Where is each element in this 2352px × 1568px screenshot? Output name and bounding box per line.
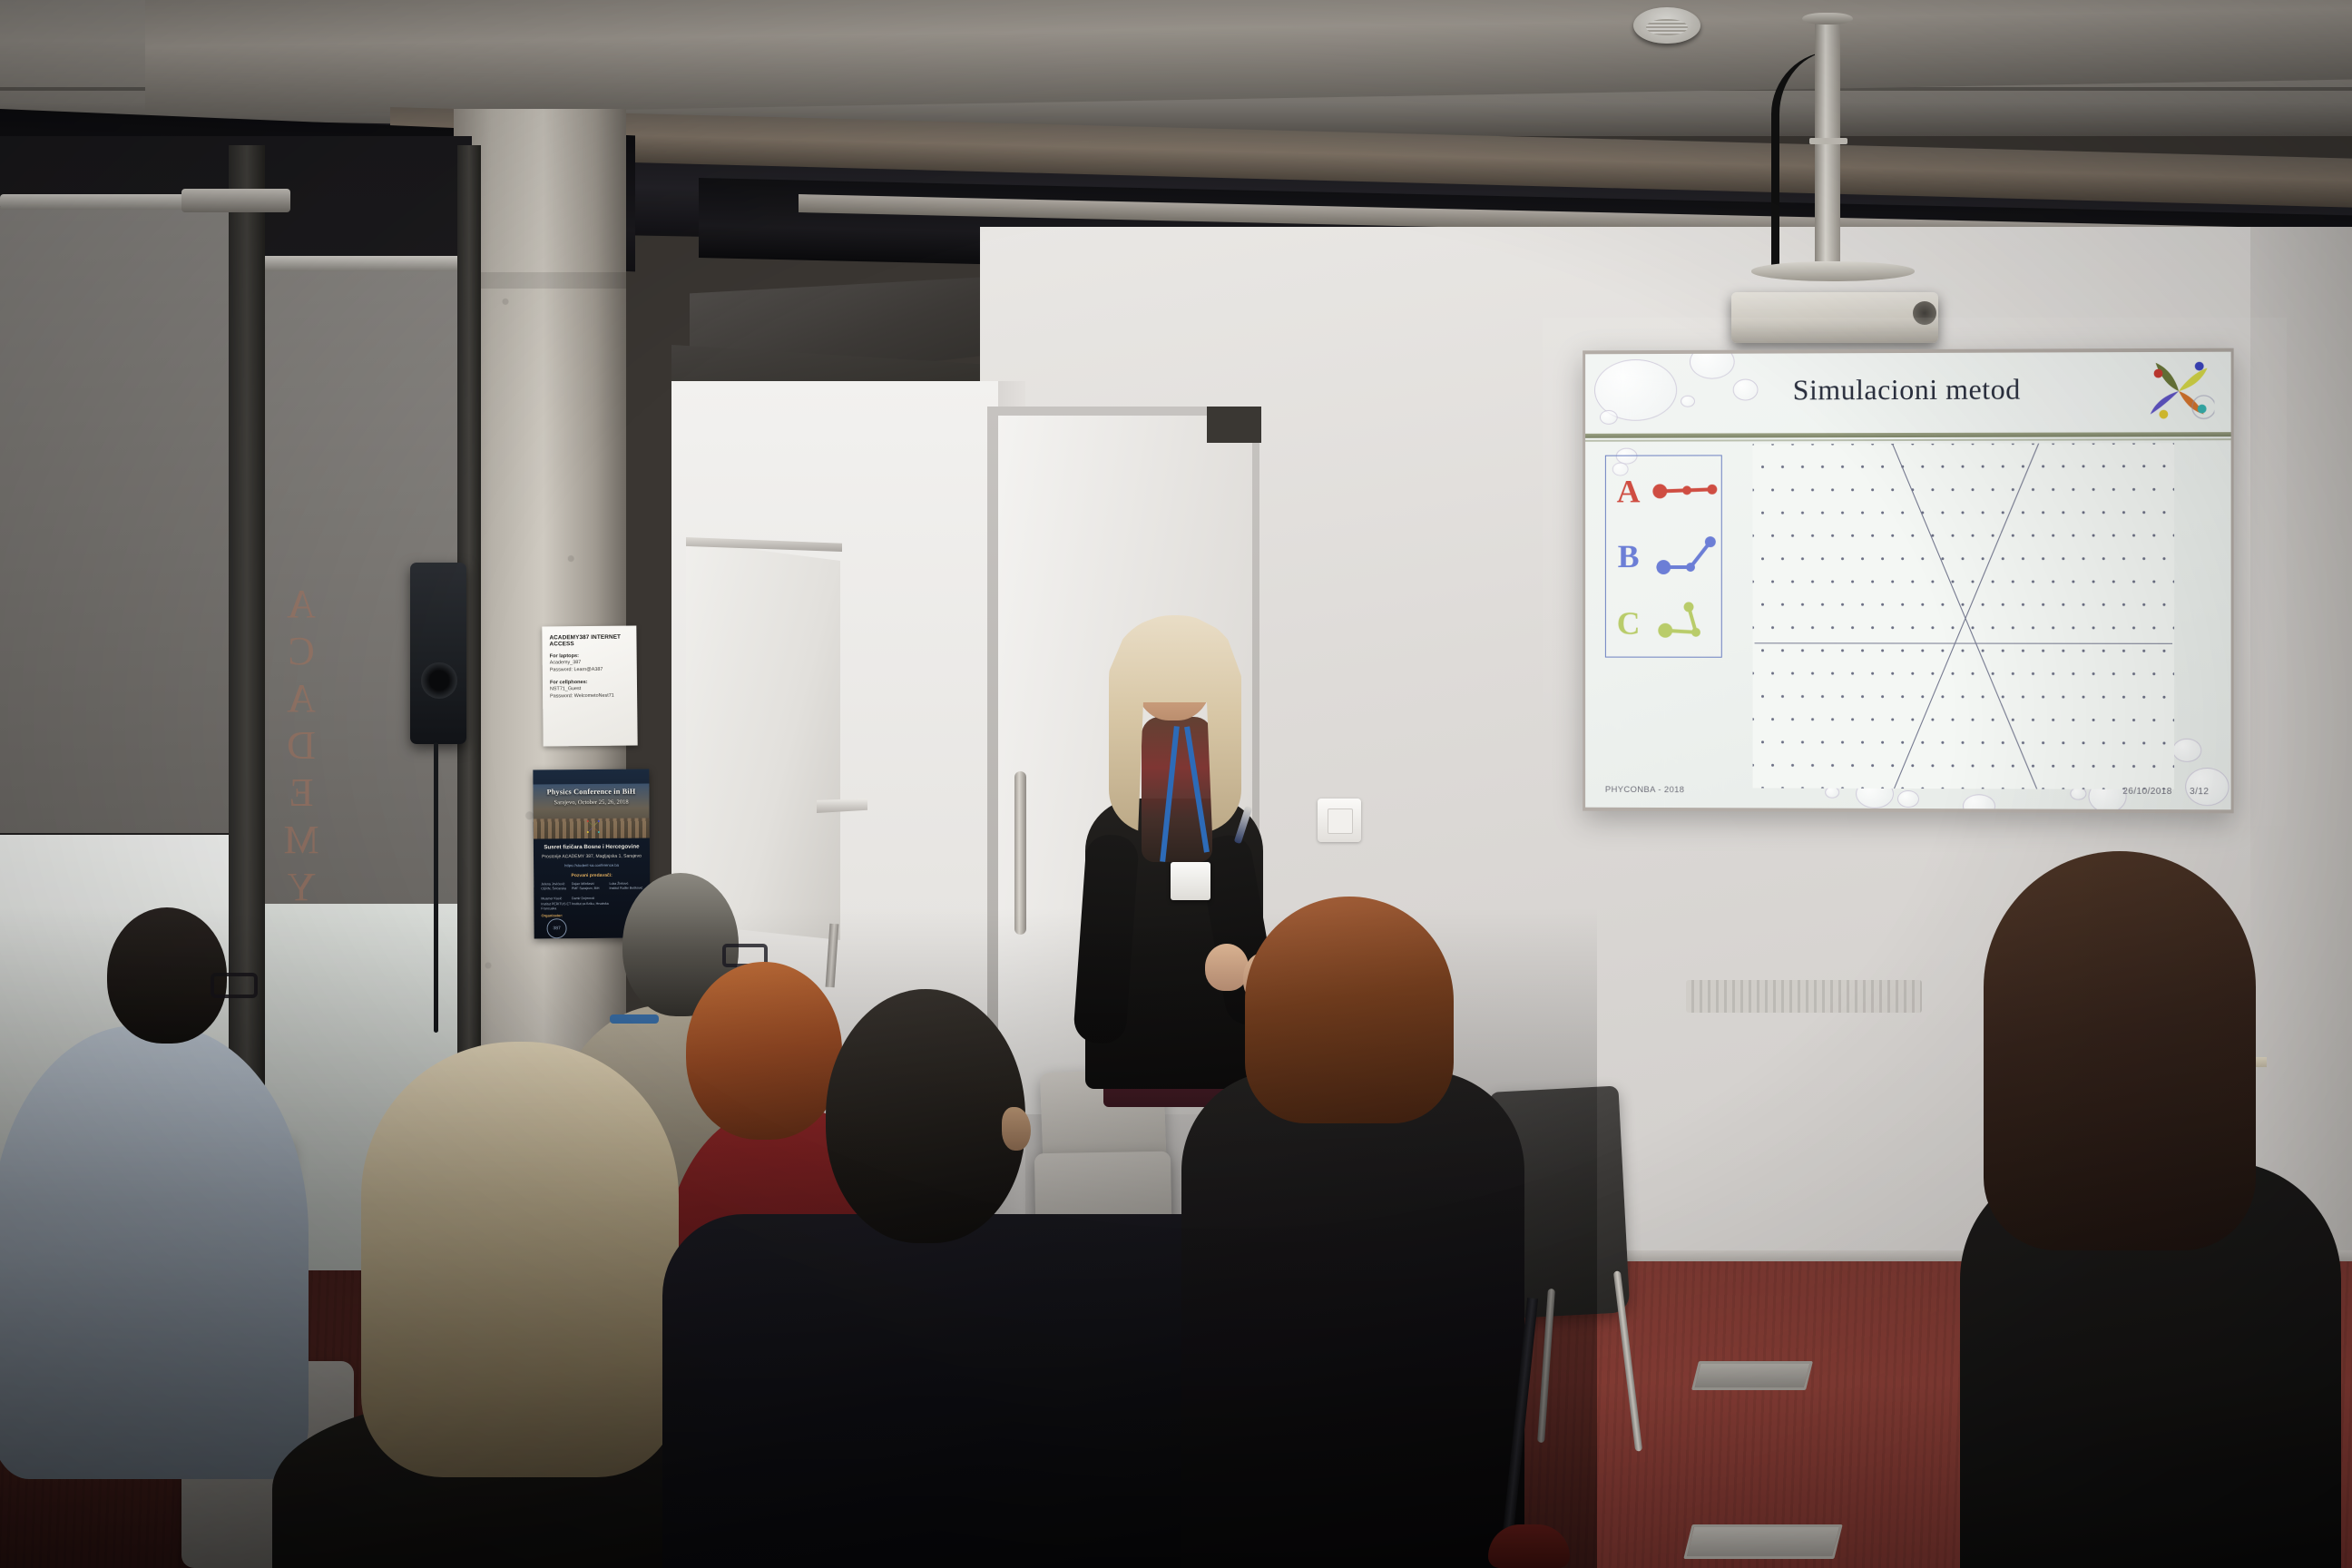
wifi-laptops-password: Password: Learn@A387 (550, 666, 630, 674)
slide-title-rule-thin (1585, 438, 2230, 442)
slide-footer-page: 3/12 (2190, 787, 2209, 797)
audience-5-ear (1002, 1107, 1031, 1151)
slide-footer-left: PHYCONBA - 2018 (1605, 785, 1685, 795)
glass-letter-e: E (288, 769, 314, 817)
audience-7-hair (1984, 851, 2256, 1250)
triangular-lattice-diagram (1753, 443, 2175, 789)
presentation-slide: Simulacioni metod A (1585, 352, 2230, 810)
smoke-detector-icon (1633, 7, 1700, 44)
projector-pole-ring (1809, 138, 1847, 144)
legend-path-b-icon (1651, 533, 1720, 580)
poster-line-3: https://student-sa.conference.ba (534, 863, 650, 868)
door-top-block (1207, 407, 1261, 443)
projector-ceiling-plate (1802, 13, 1853, 24)
glass-letter-m: M (281, 817, 318, 864)
audience-3-head (686, 962, 842, 1140)
legend-row-a: A (1606, 459, 1721, 523)
poster-title: Physics Conference in BiH (533, 788, 649, 797)
legend-path-a-icon (1651, 467, 1720, 514)
legend-letter-c: C (1606, 604, 1651, 642)
presentation-room-scene: A C A D E M Y ACADEMY387 INTERNET ACCESS… (0, 0, 2352, 1568)
bubble-decor-icon (1963, 794, 1995, 809)
door-closer-arm (181, 189, 290, 212)
ceiling-projector (1731, 292, 1938, 343)
wall-vent (1686, 980, 1922, 1013)
poster-line-4: Pozvani predavači: (534, 873, 650, 879)
poster-pinwheel-icon (584, 817, 603, 837)
audience-4-hair (361, 1042, 679, 1477)
projector-lens-icon (1913, 301, 1936, 325)
slide-title: Simulacioni metod (1585, 372, 2230, 407)
presenter-badge (1171, 862, 1210, 900)
audience-1-torso (0, 1025, 309, 1479)
floor-socket-box (1691, 1361, 1813, 1390)
legend-row-c: C (1606, 592, 1721, 655)
audience-2-lanyard (610, 1014, 659, 1024)
slide-title-rule (1585, 432, 2230, 438)
poster-names-left: Jelena Jovićević CERN, Švicarska Muamer … (541, 882, 571, 912)
poster-speaker-names: Jelena Jovićević CERN, Švicarska Muamer … (541, 882, 642, 912)
poster-seal-icon: 387 (546, 918, 566, 938)
glass-letter-a: A (285, 581, 316, 628)
light-switch[interactable] (1318, 799, 1361, 842)
bubble-decor-icon (2070, 788, 2086, 800)
projection-screen: Simulacioni metod A (1583, 348, 2233, 814)
wall-speaker (410, 563, 466, 744)
glass-letter-d: D (285, 722, 316, 769)
slide-legend-box: A B (1605, 455, 1722, 657)
wifi-notice: ACADEMY387 INTERNET ACCESS For laptops: … (542, 625, 637, 746)
bag-on-floor (1488, 1524, 1570, 1568)
window-glass-lettering: A C A D E M Y (272, 581, 328, 962)
projector-mount-bracket (1751, 261, 1915, 281)
floor-socket-box (1683, 1524, 1842, 1559)
audience-1-head (107, 907, 227, 1044)
window-blind-left[interactable] (0, 207, 229, 833)
glass-letter-a2: A (285, 675, 316, 722)
poster-line-1: Susret fizičara Bosne i Hercegovine (534, 844, 650, 851)
legend-row-b: B (1606, 524, 1721, 588)
wifi-cellphones-password: Password: WelcometoNest71 (550, 692, 630, 701)
poster-subtitle: Sarajevo, October 25, 26, 2018 (534, 799, 650, 807)
glass-letter-y: Y (285, 864, 316, 911)
bubble-decor-icon (1897, 790, 1919, 808)
glass-letter-c: C (286, 628, 314, 675)
flipchart-easel (686, 541, 840, 940)
audience-6-torso (1181, 1071, 1524, 1568)
poster-line-2: Prostorije ACADEMY 387, Magljajska 1, Sa… (534, 854, 650, 860)
wifi-notice-title: ACADEMY387 INTERNET ACCESS (549, 634, 629, 648)
speaker-cable (434, 742, 438, 1033)
audience-1-glasses-icon (211, 973, 258, 998)
legend-letter-b: B (1606, 537, 1651, 575)
bubble-decor-icon (2172, 739, 2201, 762)
audience-5-head (826, 989, 1025, 1243)
right-wall-return (2250, 227, 2352, 1298)
poster-organizer-label: Organizator: (541, 913, 563, 917)
legend-letter-a: A (1606, 472, 1651, 510)
blind-rail-right (260, 256, 474, 271)
presenter-hand-left (1205, 944, 1249, 991)
slide-footer-right: 26/10/2018 3/12 (2108, 787, 2209, 797)
phyconba-pinwheel-logo-icon (2143, 356, 2215, 427)
poster-names-mid: Dejan Milošević PMF Sarajevo, BiH Damir … (572, 882, 609, 912)
audience-6-hair (1245, 897, 1454, 1123)
slide-footer-date: 26/10/2018 (2122, 787, 2171, 797)
legend-path-c-icon (1651, 600, 1720, 647)
door-handle[interactable] (1014, 771, 1026, 935)
